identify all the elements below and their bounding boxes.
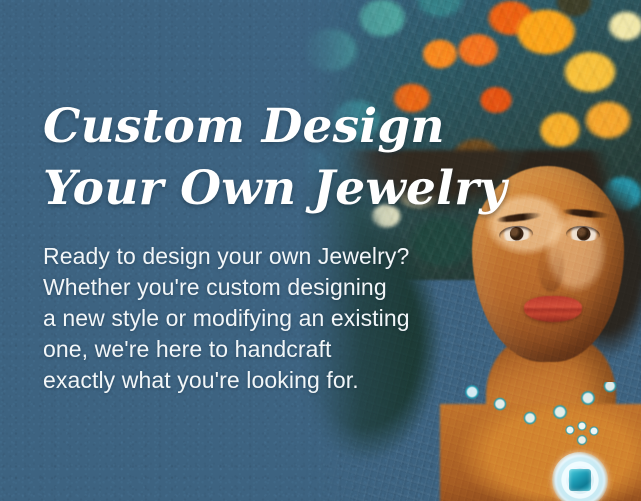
- description-line-2: Whether you're custom designing: [43, 272, 443, 303]
- description-line-4: one, we're here to handcraft: [43, 334, 443, 365]
- custom-design-hero-banner: Custom Design Your Own Jewelry Ready to …: [0, 0, 641, 501]
- banner-copy: Custom Design Your Own Jewelry Ready to …: [43, 0, 443, 396]
- necklace-pendant: [552, 452, 608, 501]
- page-title: Custom Design Your Own Jewelry: [43, 0, 443, 220]
- description-line-1: Ready to design your own Jewelry?: [43, 241, 443, 272]
- description-line-3: a new style or modifying an existing: [43, 303, 443, 334]
- headline-line-2: Your Own Jewelry: [43, 158, 443, 220]
- necklace-centerpiece: [562, 420, 602, 450]
- headline-line-1: Custom Design: [43, 96, 443, 158]
- description-line-5: exactly what you're looking for.: [43, 365, 443, 396]
- banner-description: Ready to design your own Jewelry? Whethe…: [43, 220, 443, 396]
